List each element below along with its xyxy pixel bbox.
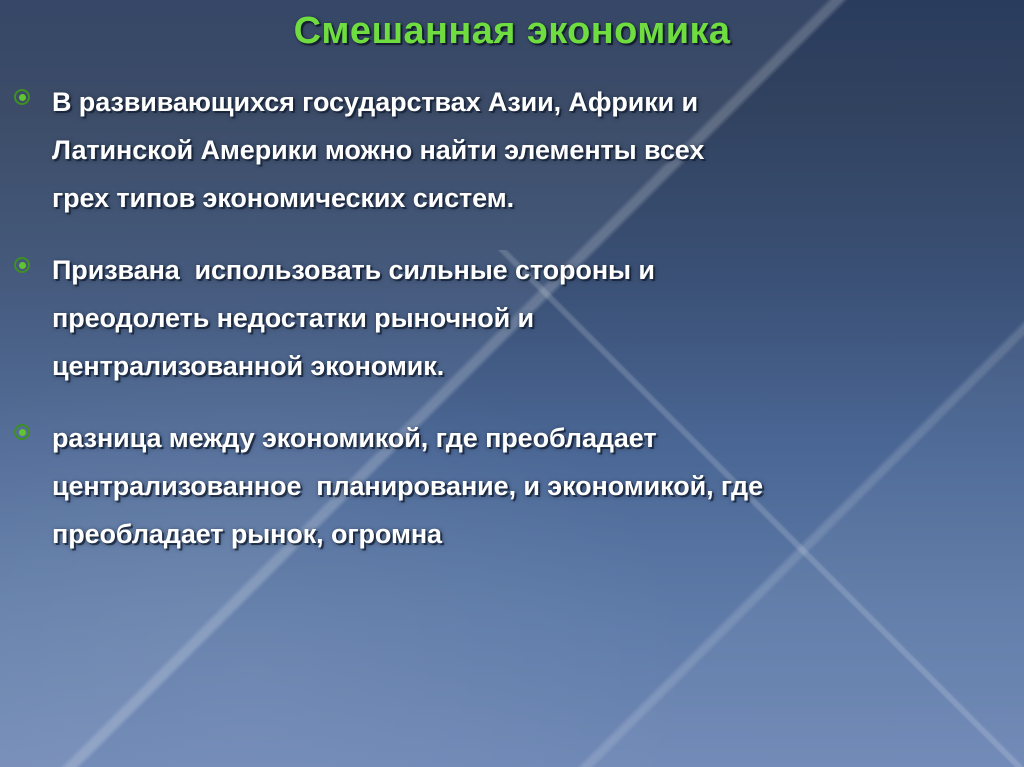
bullet-text: Призвана использовать сильные стороны и … [52, 246, 655, 390]
bullet-line: грех типов экономических систем. [52, 174, 704, 222]
slide-title: Смешанная экономика [0, 8, 1024, 54]
target-dot-icon [14, 257, 30, 273]
slide-canvas: Смешанная экономика В развивающихся госу… [0, 0, 1024, 767]
list-item: В развивающихся государствах Азии, Африк… [0, 78, 1024, 222]
bullet-text: В развивающихся государствах Азии, Африк… [52, 78, 704, 222]
bullet-text: разница между экономикой, где преобладае… [52, 414, 763, 558]
list-item: разница между экономикой, где преобладае… [0, 414, 1024, 558]
bullet-line: В развивающихся государствах Азии, Африк… [52, 78, 704, 126]
bullet-line: Латинской Америки можно найти элементы в… [52, 126, 704, 174]
slide-body: В развивающихся государствах Азии, Африк… [0, 78, 1024, 582]
bullet-line: Призвана использовать сильные стороны и [52, 246, 655, 294]
bullet-line: централизованное планирование, и экономи… [52, 462, 763, 510]
bullet-line: разница между экономикой, где преобладае… [52, 414, 763, 462]
bullet-line: преобладает рынок, огромна [52, 510, 763, 558]
target-dot-icon [14, 89, 30, 105]
target-dot-icon [14, 424, 30, 440]
bullet-line: централизованной экономик. [52, 342, 655, 390]
list-item: Призвана использовать сильные стороны и … [0, 246, 1024, 390]
bullet-line: преодолеть недостатки рыночной и [52, 294, 655, 342]
